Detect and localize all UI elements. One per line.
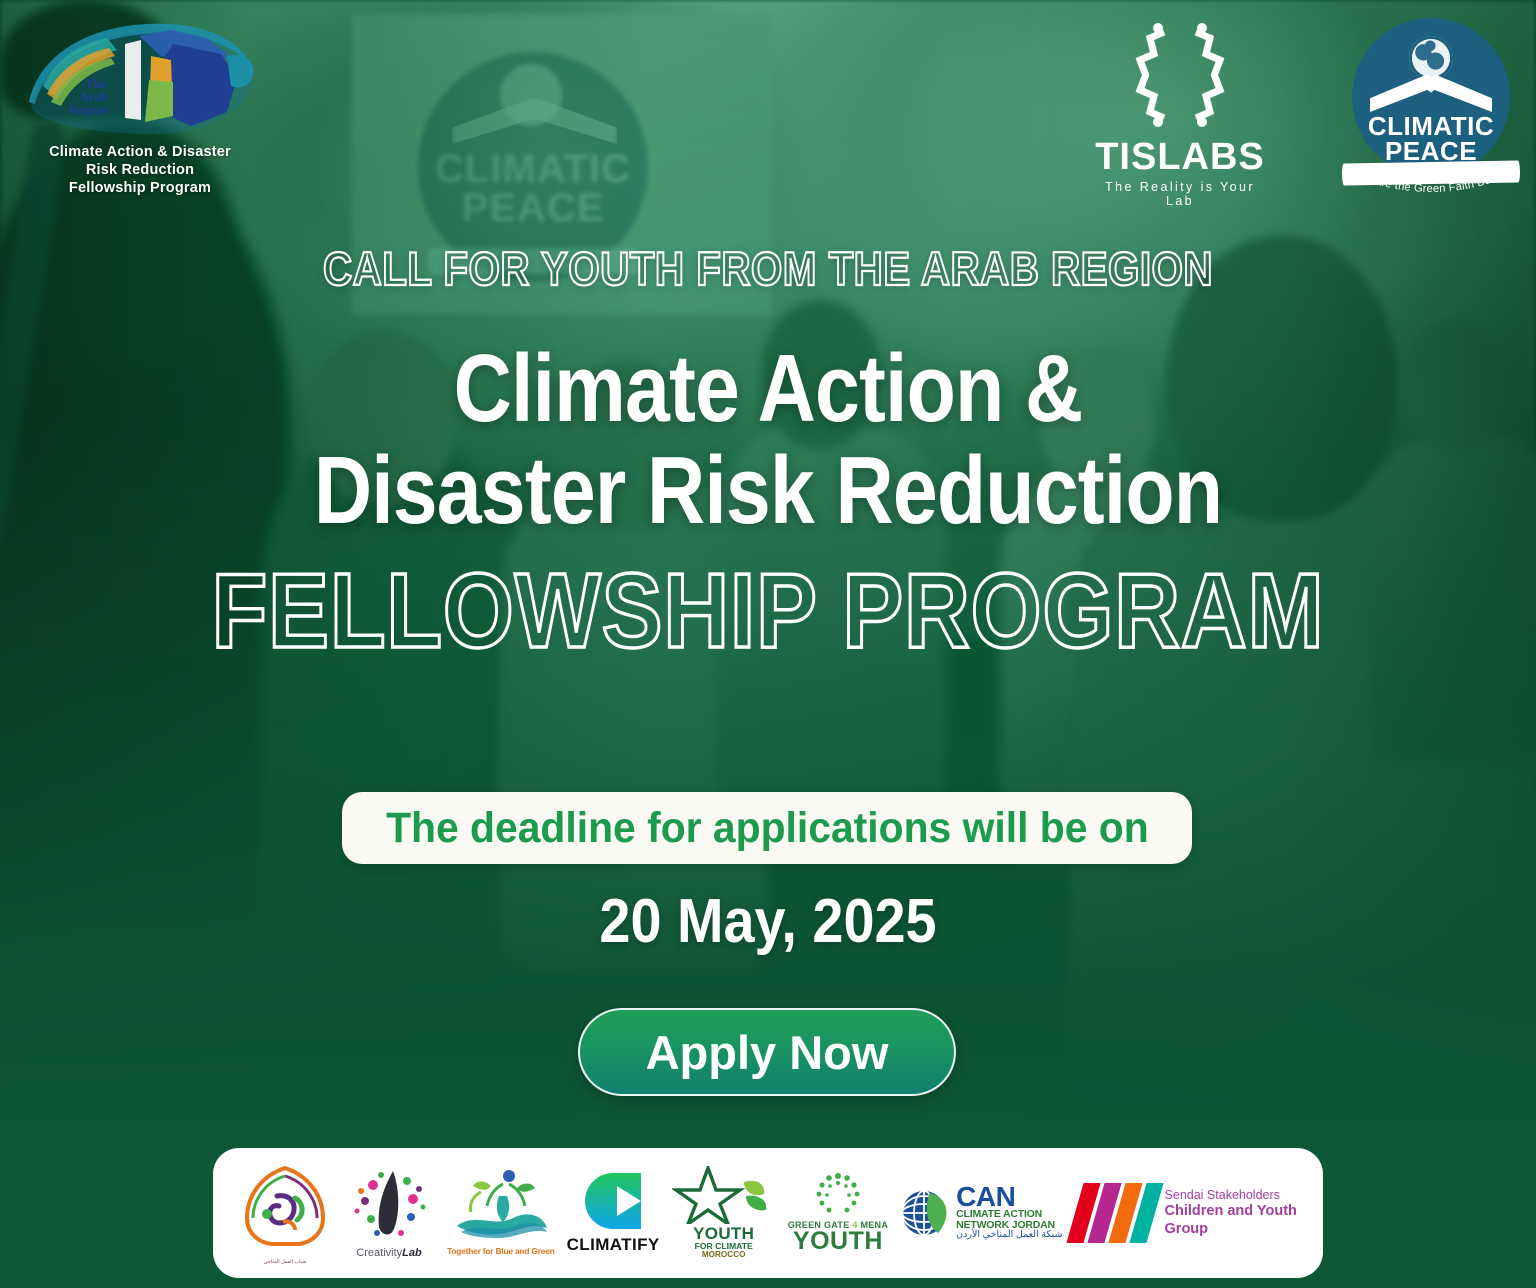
tislabs-mark-icon xyxy=(1120,16,1240,134)
heritage-subtitle: شباب العمل المناخي xyxy=(264,1259,307,1265)
org-caption-line1: Climate Action & Disaster xyxy=(14,144,266,162)
green-gate-line2: YOUTH xyxy=(793,1230,883,1253)
tislabs-tagline: The Reality is Your Lab xyxy=(1090,180,1270,208)
creativity-lab-name: CreativityLab xyxy=(356,1247,421,1259)
partner-logo-sendai-children-youth[interactable]: Sendai Stakeholders Children and Youth G… xyxy=(1075,1183,1297,1243)
deadline-date: 20 May, 2025 xyxy=(77,886,1459,957)
page-title: Climate Action & Disaster Risk Reduction xyxy=(123,338,1413,542)
partner-logo-green-gate-mena-youth[interactable]: GREEN GATE 4 MENA YOUTH xyxy=(788,1173,888,1253)
climatic-peace-line1: CLIMATIC xyxy=(1352,114,1510,139)
svg-text:Youth are the Green Faith Buil: Youth are the Green Faith Builders xyxy=(1343,165,1519,195)
green-gate-dot-ring-icon xyxy=(816,1173,860,1217)
poster-canvas: CLIMATIC PEACE xyxy=(0,0,1536,1288)
title-line-2: Disaster Risk Reduction xyxy=(123,440,1413,542)
org-logo: The Arab Region Climate Action & Disaste… xyxy=(14,16,266,198)
org-caption-line2: Risk Reduction xyxy=(14,162,266,180)
org-logo-caption: Climate Action & Disaster Risk Reduction… xyxy=(14,144,266,198)
can-arabic: شبكة العمل المناخي الأردن xyxy=(956,1230,1062,1240)
climatic-peace-wordmark: CLIMATIC PEACE xyxy=(1352,114,1510,163)
partner-logo-creativity-lab[interactable]: CreativityLab xyxy=(343,1167,435,1259)
tislabs-logo: TISLABS The Reality is Your Lab xyxy=(1090,16,1270,208)
climatify-mark-icon xyxy=(584,1172,642,1230)
climatic-peace-line2: PEACE xyxy=(1352,139,1510,164)
partner-logo-together-blue-green[interactable]: Together for Blue and Green xyxy=(447,1170,555,1256)
youth-for-climate-line1: YOUTH xyxy=(693,1226,754,1242)
apply-now-button[interactable]: Apply Now xyxy=(578,1008,956,1096)
partner-logo-youth-for-climate-morocco[interactable]: YOUTH FOR CLIMATE MOROCCO xyxy=(672,1166,776,1260)
kicker-text: CALL FOR YOUTH FROM THE ARAB REGION xyxy=(108,245,1429,292)
creativity-lab-name-bold: Lab xyxy=(402,1247,422,1259)
deadline-label: The deadline for applications will be on xyxy=(386,804,1149,853)
together-blue-green-name: Together for Blue and Green xyxy=(447,1246,555,1256)
title-line-1: Climate Action & xyxy=(123,338,1413,440)
page-subtitle: FELLOWSHIP PROGRAM xyxy=(108,558,1429,664)
heritage-emblem-icon xyxy=(239,1162,331,1258)
sendai-line3: Group xyxy=(1165,1221,1297,1238)
creativity-lab-splash-icon xyxy=(343,1167,435,1245)
can-acronym: CAN xyxy=(956,1185,1062,1209)
sendai-line2: Children and Youth xyxy=(1165,1203,1297,1220)
partners-bar: شباب العمل المناخي Cre xyxy=(213,1148,1323,1278)
partner-logo-climatify[interactable]: CLIMATIFY xyxy=(567,1172,660,1255)
sendai-line1: Sendai Stakeholders xyxy=(1165,1188,1297,1204)
youth-for-climate-star-icon xyxy=(672,1166,776,1226)
climatic-peace-logo: CLIMATIC PEACE Youth are the Green Faith… xyxy=(1338,14,1524,200)
climatic-peace-arc-text: Youth are the Green Faith Builders xyxy=(1338,164,1524,206)
creativity-lab-name-regular: Creativity xyxy=(356,1247,402,1259)
map-label-region: Region xyxy=(69,102,109,117)
together-blue-green-icon xyxy=(451,1170,551,1244)
org-caption-line3: Fellowship Program xyxy=(14,180,266,198)
arab-region-map-icon: The Arab Region xyxy=(21,16,259,138)
can-globe-leaf-icon xyxy=(900,1187,952,1239)
climatify-name: CLIMATIFY xyxy=(567,1235,660,1255)
tislabs-name: TISLABS xyxy=(1090,138,1270,176)
partner-logo-heritage[interactable]: شباب العمل المناخي xyxy=(239,1162,331,1265)
globe-icon xyxy=(1409,36,1453,80)
youth-for-climate-line3: MOROCCO xyxy=(702,1251,746,1260)
sendai-bars-icon xyxy=(1075,1183,1155,1243)
partner-logo-can-jordan[interactable]: CAN CLIMATE ACTION NETWORK JORDAN شبكة ا… xyxy=(900,1185,1062,1240)
climatic-peace-arc-label: Youth are the Green Faith Builders xyxy=(1343,165,1519,195)
deadline-banner: The deadline for applications will be on xyxy=(342,792,1192,864)
